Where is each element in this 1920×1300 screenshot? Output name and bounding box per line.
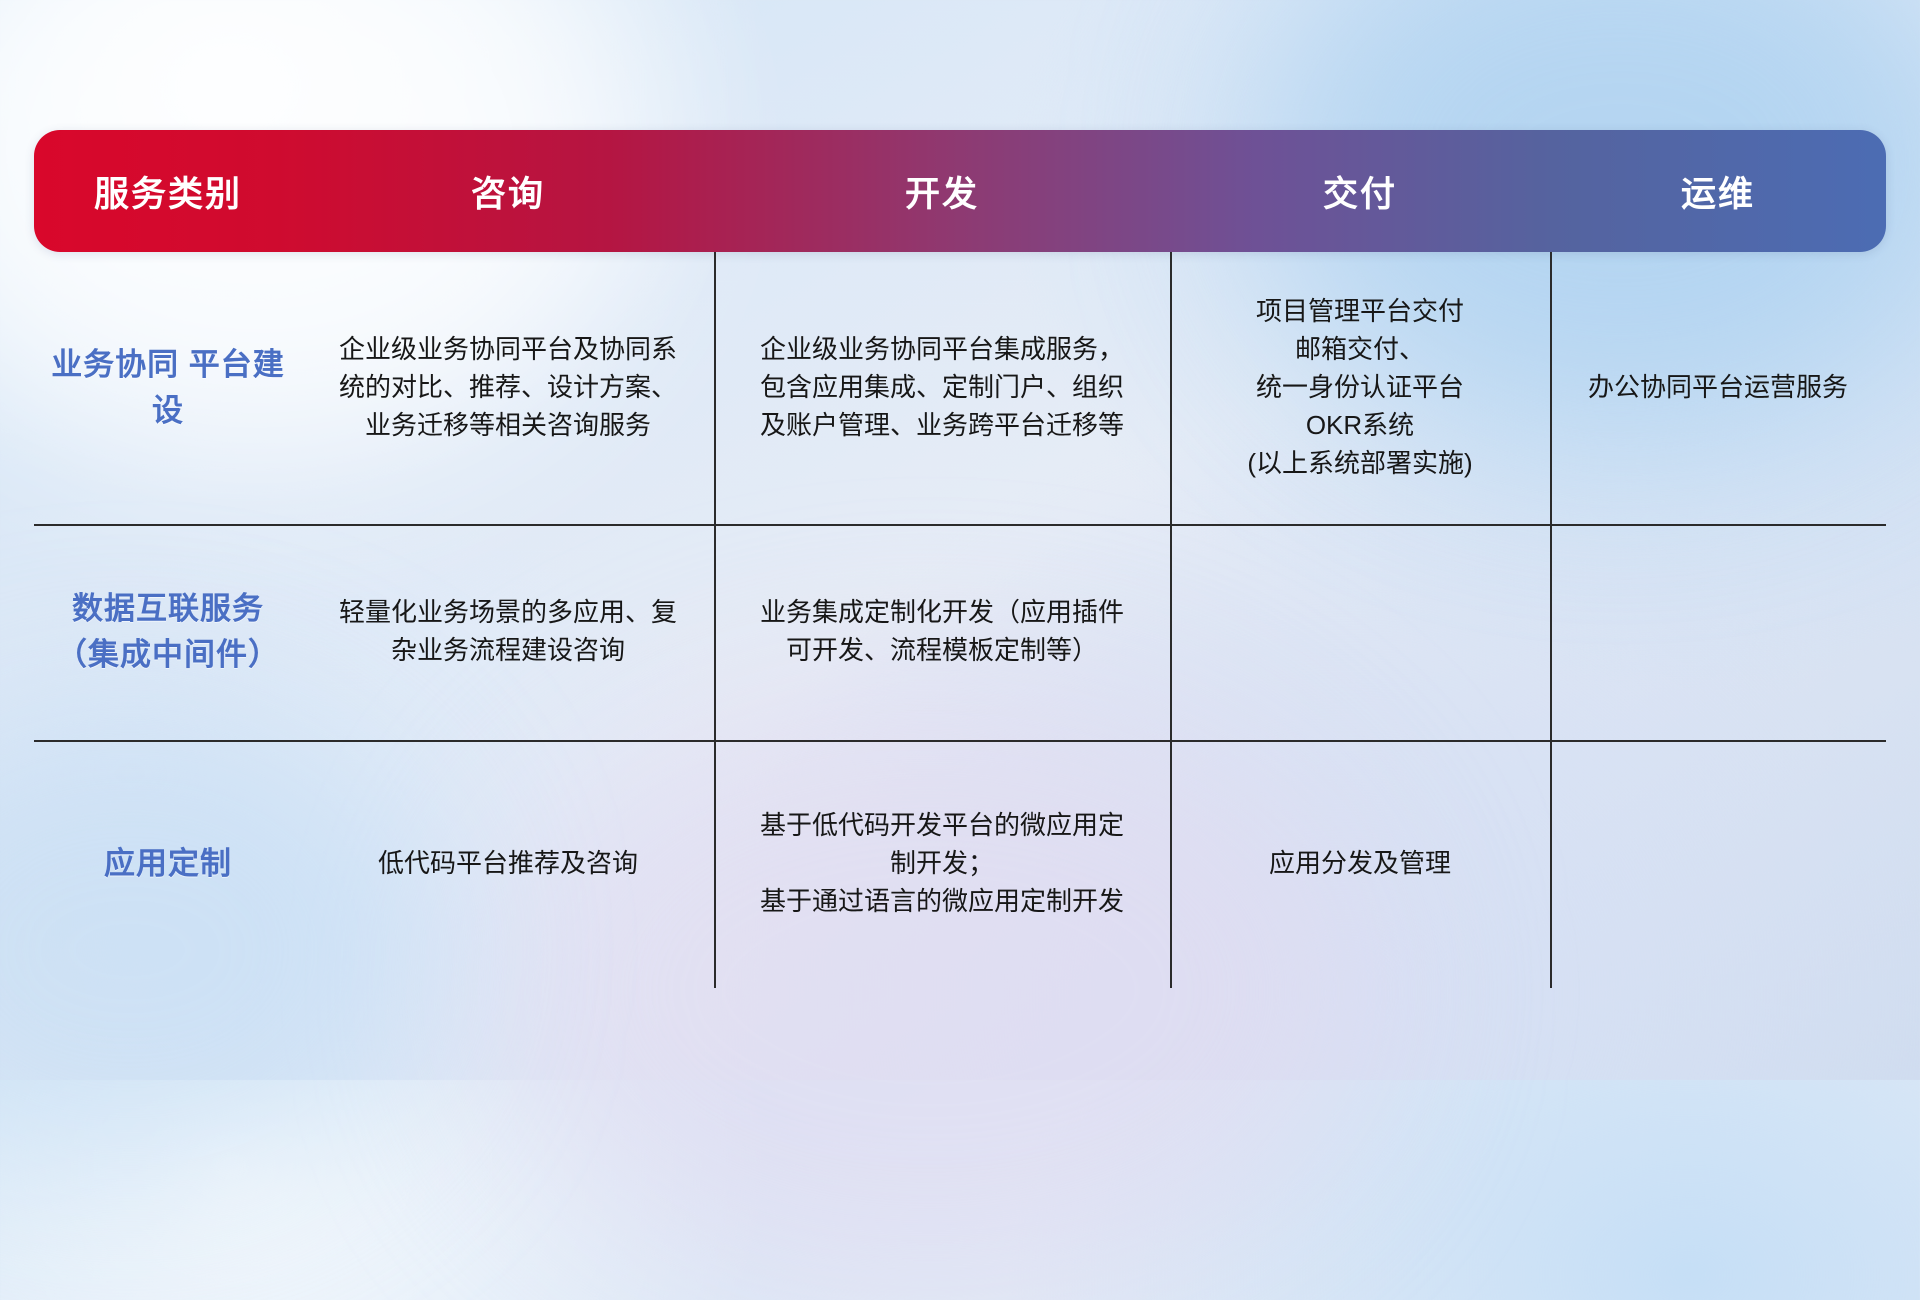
row-label-text: 应用定制 xyxy=(104,841,232,888)
row-label-cell: 业务协同 平台建设 xyxy=(34,252,302,524)
row-label-text: 数据互联服务 （集成中间件） xyxy=(48,586,288,679)
service-matrix-table: 服务类别 咨询 开发 交付 运维 业务协同 平台建设 企业级业务协同平台及协同系… xyxy=(34,130,1886,988)
cell-development: 基于低代码开发平台的微应用定 制开发； 基于通过语言的微应用定制开发 xyxy=(714,740,1170,988)
row-label-cell: 应用定制 xyxy=(34,740,302,988)
table-row: 业务协同 平台建设 企业级业务协同平台及协同系 统的对比、推荐、设计方案、 业务… xyxy=(34,252,1886,524)
table-header-row: 服务类别 咨询 开发 交付 运维 xyxy=(34,130,1886,252)
cell-text: 企业级业务协同平台及协同系 统的对比、推荐、设计方案、 业务迁移等相关咨询服务 xyxy=(339,331,677,445)
cell-text: 轻量化业务场景的多应用、复 杂业务流程建设咨询 xyxy=(339,594,677,670)
cell-consulting: 轻量化业务场景的多应用、复 杂业务流程建设咨询 xyxy=(302,524,714,740)
table-row: 应用定制 低代码平台推荐及咨询 基于低代码开发平台的微应用定 制开发； 基于通过… xyxy=(34,740,1886,988)
header-cell-development: 开发 xyxy=(714,166,1170,217)
cell-consulting: 企业级业务协同平台及协同系 统的对比、推荐、设计方案、 业务迁移等相关咨询服务 xyxy=(302,252,714,524)
header-cell-delivery: 交付 xyxy=(1170,166,1550,217)
slide-canvas: 服务类别 咨询 开发 交付 运维 业务协同 平台建设 企业级业务协同平台及协同系… xyxy=(0,0,1920,1080)
row-label-text: 业务协同 平台建设 xyxy=(48,342,288,435)
header-cell-consulting: 咨询 xyxy=(302,166,714,217)
header-cell-operations: 运维 xyxy=(1550,166,1886,217)
header-cell-category: 服务类别 xyxy=(34,166,302,217)
cell-operations xyxy=(1550,524,1886,740)
cell-development: 业务集成定制化开发（应用插件 可开发、流程模板定制等） xyxy=(714,524,1170,740)
cell-text: 项目管理平台交付 邮箱交付、 统一身份认证平台 OKR系统 (以上系统部署实施) xyxy=(1247,293,1472,483)
table-body: 业务协同 平台建设 企业级业务协同平台及协同系 统的对比、推荐、设计方案、 业务… xyxy=(34,252,1886,988)
cell-text: 企业级业务协同平台集成服务， 包含应用集成、定制门户、组织 及账户管理、业务跨平… xyxy=(760,331,1124,445)
cell-text: 基于低代码开发平台的微应用定 制开发； 基于通过语言的微应用定制开发 xyxy=(760,807,1124,921)
cell-delivery: 项目管理平台交付 邮箱交付、 统一身份认证平台 OKR系统 (以上系统部署实施) xyxy=(1170,252,1550,524)
cell-text: 业务集成定制化开发（应用插件 可开发、流程模板定制等） xyxy=(760,594,1124,670)
table-row: 数据互联服务 （集成中间件） 轻量化业务场景的多应用、复 杂业务流程建设咨询 业… xyxy=(34,524,1886,740)
cell-delivery: 应用分发及管理 xyxy=(1170,740,1550,988)
cell-text: 办公协同平台运营服务 xyxy=(1588,369,1848,407)
cell-text: 低代码平台推荐及咨询 xyxy=(378,845,638,883)
cell-consulting: 低代码平台推荐及咨询 xyxy=(302,740,714,988)
cell-operations xyxy=(1550,740,1886,988)
cell-delivery xyxy=(1170,524,1550,740)
cell-text: 应用分发及管理 xyxy=(1269,845,1451,883)
cell-development: 企业级业务协同平台集成服务， 包含应用集成、定制门户、组织 及账户管理、业务跨平… xyxy=(714,252,1170,524)
row-label-cell: 数据互联服务 （集成中间件） xyxy=(34,524,302,740)
cell-operations: 办公协同平台运营服务 xyxy=(1550,252,1886,524)
